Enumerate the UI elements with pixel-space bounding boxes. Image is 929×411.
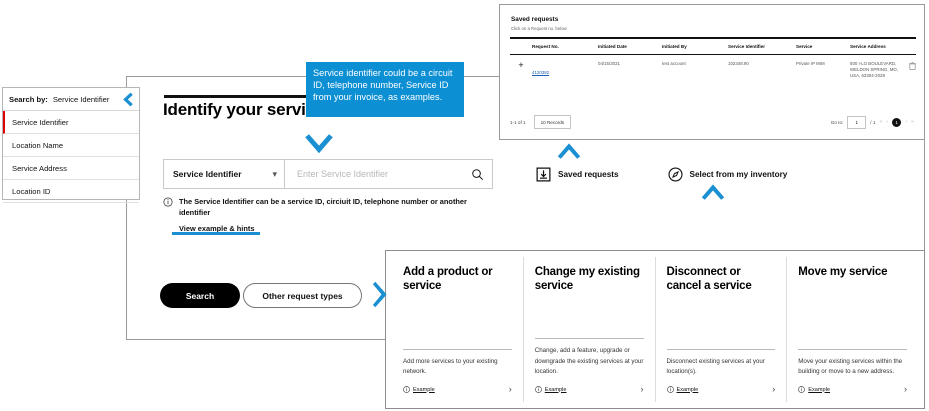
goto-page-input[interactable]: [847, 116, 866, 129]
card-title: Move my service: [798, 266, 907, 280]
saved-requests-label: Saved requests: [558, 170, 619, 179]
select-inventory-action[interactable]: Select from my inventory: [668, 167, 788, 182]
info-icon: [535, 386, 542, 393]
card-description: Change, add a feature, upgrade or downgr…: [535, 346, 644, 377]
col-service-identifier: Service Identifier: [728, 44, 796, 49]
service-search-bar[interactable]: Service Identifier ▾: [163, 159, 493, 189]
saved-requests-footer: 1-1 of 1 10 Records Go to: / 1 « ‹ 1 › »: [510, 112, 914, 132]
cell-initiated-date: 04/15/2021: [598, 61, 662, 67]
card-example-link[interactable]: Example: [667, 386, 699, 393]
col-initiated-date: Initiated Date: [598, 44, 662, 49]
card-title: Add a product or service: [403, 266, 512, 293]
cell-service-address: 500 I-LO BOULEVARD, WELDON SPRING, MO, U…: [850, 61, 898, 80]
record-range-label: 1-1 of 1: [510, 120, 526, 125]
chevron-left-icon[interactable]: [118, 92, 135, 107]
search-by-value: Service Identifier: [53, 95, 110, 104]
card-divider: [667, 349, 776, 350]
chevron-right-icon[interactable]: ›: [509, 385, 512, 394]
action-links-row: Saved requests Select from my inventory: [536, 164, 787, 184]
card-description: Move your existing services within the b…: [798, 357, 907, 377]
info-icon: [798, 386, 805, 393]
card-disconnect-or-cancel[interactable]: Disconnect or cancel a service Disconnec…: [656, 257, 788, 402]
card-example-label: Example: [677, 387, 699, 393]
dropdown-item-label: Location Name: [12, 141, 63, 150]
request-type-cards-panel: Add a product or service Add more servic…: [385, 250, 925, 409]
col-service-address: Service Address: [850, 44, 886, 49]
search-button[interactable]: Search: [160, 283, 240, 308]
info-icon: [403, 386, 410, 393]
last-page-button[interactable]: »: [911, 119, 914, 125]
chevron-right-icon[interactable]: ›: [904, 385, 907, 394]
dropdown-item-label: Service Identifier: [12, 118, 69, 127]
download-box-icon: [536, 167, 551, 182]
other-request-types-button[interactable]: Other request types: [243, 283, 362, 308]
tooltip-down-arrow-icon: [303, 134, 335, 156]
card-title: Change my existing service: [535, 266, 644, 293]
col-request-no: Request No.: [532, 44, 598, 49]
dropdown-item-label: Service Address: [12, 164, 67, 173]
card-add-product-or-service[interactable]: Add a product or service Add more servic…: [392, 257, 524, 402]
saved-requests-subtitle: Click on a Request no. below: [511, 26, 567, 31]
card-divider: [798, 349, 907, 350]
cell-request-no[interactable]: 4120382: [532, 70, 549, 75]
chevron-right-icon[interactable]: ›: [641, 385, 644, 394]
card-example-link[interactable]: Example: [535, 386, 567, 393]
search-icon[interactable]: [471, 168, 484, 181]
card-description: Disconnect existing services at your loc…: [667, 357, 776, 377]
dropdown-item-service-identifier[interactable]: Service Identifier: [3, 111, 139, 134]
title-rule: [164, 95, 324, 98]
search-type-value: Service Identifier: [173, 169, 242, 179]
records-per-page-button[interactable]: 10 Records: [534, 115, 572, 129]
search-type-select[interactable]: Service Identifier ▾: [164, 160, 285, 188]
goto-label: Go to:: [831, 120, 844, 125]
chevron-right-icon[interactable]: ›: [772, 385, 775, 394]
card-title: Disconnect or cancel a service: [667, 266, 776, 293]
card-example-label: Example: [808, 387, 830, 393]
table-header-row: Request No. Initiated Date Initiated By …: [510, 39, 916, 55]
dropdown-item-service-address[interactable]: Service Address: [3, 157, 139, 180]
select-inventory-label: Select from my inventory: [690, 170, 788, 179]
helper-text: The Service Identifier can be a service …: [179, 196, 483, 218]
col-initiated-by: Initiated By: [662, 44, 728, 49]
search-input-wrap[interactable]: [285, 160, 492, 188]
card-move-my-service[interactable]: Move my service Move your existing servi…: [787, 257, 918, 402]
dropdown-item-location-id[interactable]: Location ID: [3, 180, 139, 203]
saved-requests-table: Request No. Initiated Date Initiated By …: [510, 37, 916, 86]
card-divider: [535, 338, 644, 339]
chevron-down-icon: ▾: [272, 170, 277, 179]
saved-requests-panel: Saved requests Click on a Request no. be…: [499, 4, 925, 140]
saved-requests-action[interactable]: Saved requests: [536, 167, 619, 182]
dropdown-item-label: Location ID: [12, 187, 50, 196]
cell-service-identifier: 102348.90: [728, 61, 796, 67]
search-by-dropdown-panel[interactable]: Search by: Service Identifier Service Id…: [2, 87, 140, 200]
other-requests-right-arrow-icon: [372, 281, 389, 308]
card-example-label: Example: [545, 387, 567, 393]
prev-page-button[interactable]: ‹: [886, 119, 888, 125]
search-by-label: Search by:: [9, 95, 48, 104]
dropdown-item-location-name[interactable]: Location Name: [3, 134, 139, 157]
saved-requests-up-arrow-icon: [556, 141, 582, 159]
expand-row-plus-icon[interactable]: +: [518, 61, 523, 70]
card-example-label: Example: [413, 387, 435, 393]
helper-link-underline-bar: [172, 232, 260, 235]
delete-icon[interactable]: [909, 62, 916, 70]
current-page-button[interactable]: 1: [892, 118, 901, 127]
info-icon: [163, 197, 173, 207]
card-example-link[interactable]: Example: [403, 386, 435, 393]
first-page-button[interactable]: «: [879, 119, 882, 125]
cell-service: Private IP MIM: [796, 61, 850, 67]
next-page-button[interactable]: ›: [905, 119, 907, 125]
card-example-link[interactable]: Example: [798, 386, 830, 393]
cell-initiated-by: test account: [662, 61, 728, 67]
card-change-existing-service[interactable]: Change my existing service Change, add a…: [524, 257, 656, 402]
search-input[interactable]: [295, 168, 471, 180]
col-service: Service: [796, 44, 850, 49]
table-row[interactable]: + 4120382 04/15/2021 test account 102348…: [510, 55, 916, 86]
inventory-up-arrow-icon: [700, 182, 726, 200]
info-icon: [667, 386, 674, 393]
total-pages-label: / 1: [870, 120, 875, 125]
compass-icon: [668, 167, 683, 182]
search-helper: The Service Identifier can be a service …: [163, 196, 483, 236]
saved-requests-title: Saved requests: [511, 16, 558, 23]
card-description: Add more services to your existing netwo…: [403, 357, 512, 377]
service-identifier-tooltip: Service identifier could be a circuit ID…: [306, 62, 464, 117]
card-divider: [403, 349, 512, 350]
